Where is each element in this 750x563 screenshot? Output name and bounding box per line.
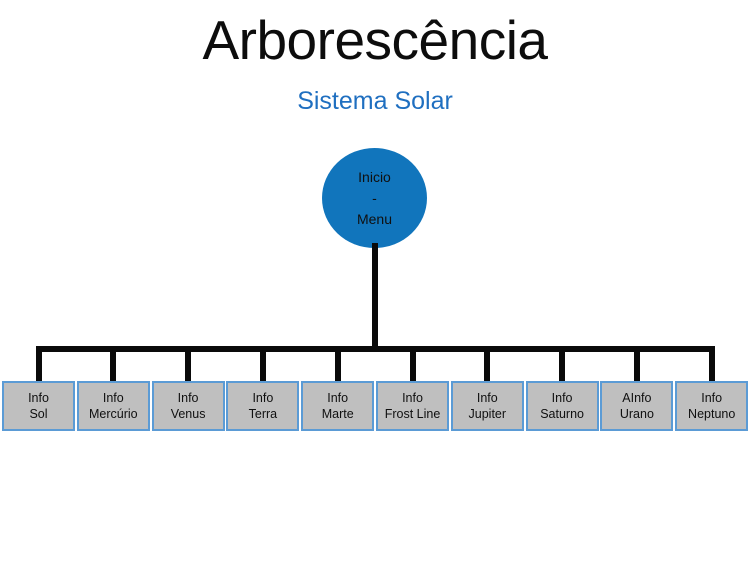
- leaf-node-label-line2: Sol: [29, 406, 47, 422]
- root-node-inicio-menu[interactable]: Inicio - Menu: [322, 148, 427, 248]
- leaf-node-label-line2: Jupiter: [469, 406, 507, 422]
- root-node-label-line3: Menu: [357, 209, 392, 230]
- leaf-node-row: InfoSolInfoMercúrioInfoVenusInfoTerraInf…: [2, 381, 748, 431]
- connector-drop: [185, 346, 191, 382]
- connector-drop: [709, 346, 715, 382]
- leaf-node-label-line1: Info: [402, 390, 423, 406]
- leaf-node-label-line1: Info: [178, 390, 199, 406]
- connector-horizontal-bus: [38, 346, 713, 352]
- leaf-node-label-line2: Venus: [171, 406, 206, 422]
- leaf-node-label-line2: Frost Line: [385, 406, 441, 422]
- leaf-node-label-line1: Info: [252, 390, 273, 406]
- connector-stem-vertical: [372, 243, 378, 349]
- leaf-node-label-line2: Saturno: [540, 406, 584, 422]
- connector-drop: [335, 346, 341, 382]
- leaf-node-label-line2: Terra: [249, 406, 277, 422]
- root-node-label-line1: Inicio: [358, 167, 391, 188]
- leaf-node[interactable]: InfoMarte: [301, 381, 374, 431]
- leaf-node-label-line1: Info: [477, 390, 498, 406]
- leaf-node[interactable]: InfoNeptuno: [675, 381, 748, 431]
- leaf-node-label-line1: Info: [327, 390, 348, 406]
- connector-drop: [260, 346, 266, 382]
- page-subtitle: Sistema Solar: [0, 86, 750, 116]
- diagram-canvas: Arborescência Sistema Solar Inicio - Men…: [0, 0, 750, 563]
- leaf-node-label-line2: Neptuno: [688, 406, 735, 422]
- leaf-node[interactable]: InfoSaturno: [526, 381, 599, 431]
- connector-drop: [36, 346, 42, 382]
- leaf-node-label-line2: Marte: [322, 406, 354, 422]
- connector-drop: [484, 346, 490, 382]
- leaf-node[interactable]: InfoSol: [2, 381, 75, 431]
- leaf-node[interactable]: InfoFrost Line: [376, 381, 449, 431]
- connector-drop: [634, 346, 640, 382]
- connector-drop: [410, 346, 416, 382]
- leaf-node-label-line1: AInfo: [622, 390, 651, 406]
- leaf-node-label-line1: Info: [701, 390, 722, 406]
- leaf-node-label-line1: Info: [28, 390, 49, 406]
- connector-drop: [559, 346, 565, 382]
- leaf-node[interactable]: InfoJupiter: [451, 381, 524, 431]
- leaf-node[interactable]: InfoMercúrio: [77, 381, 150, 431]
- page-title: Arborescência: [0, 8, 750, 72]
- leaf-node[interactable]: InfoTerra: [226, 381, 299, 431]
- leaf-node[interactable]: AInfoUrano: [600, 381, 673, 431]
- leaf-node-label-line2: Mercúrio: [89, 406, 138, 422]
- leaf-node-label-line1: Info: [552, 390, 573, 406]
- leaf-node-label-line2: Urano: [620, 406, 654, 422]
- leaf-node-label-line1: Info: [103, 390, 124, 406]
- connector-drop: [110, 346, 116, 382]
- leaf-node[interactable]: InfoVenus: [152, 381, 225, 431]
- root-node-label-line2: -: [372, 188, 377, 209]
